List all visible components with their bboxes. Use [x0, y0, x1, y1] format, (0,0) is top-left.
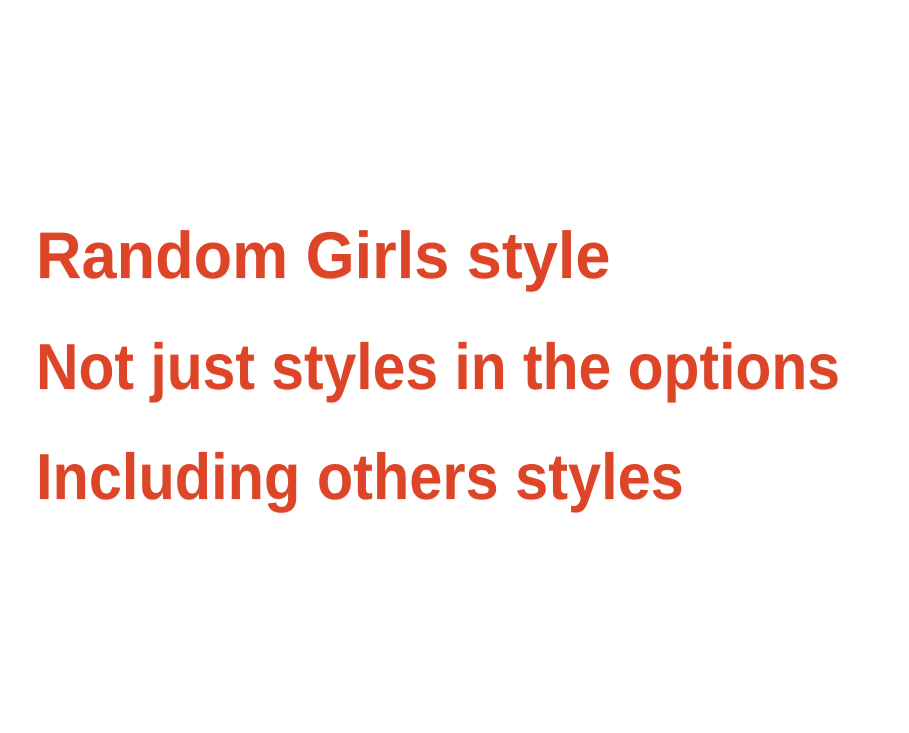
headline-line-3: Including others styles: [36, 444, 684, 509]
promo-text-banner: Random Girls style Not just styles in th…: [0, 0, 909, 733]
headline-line-2: Not just styles in the options: [36, 334, 840, 399]
headline-line-1: Random Girls style: [36, 222, 610, 288]
